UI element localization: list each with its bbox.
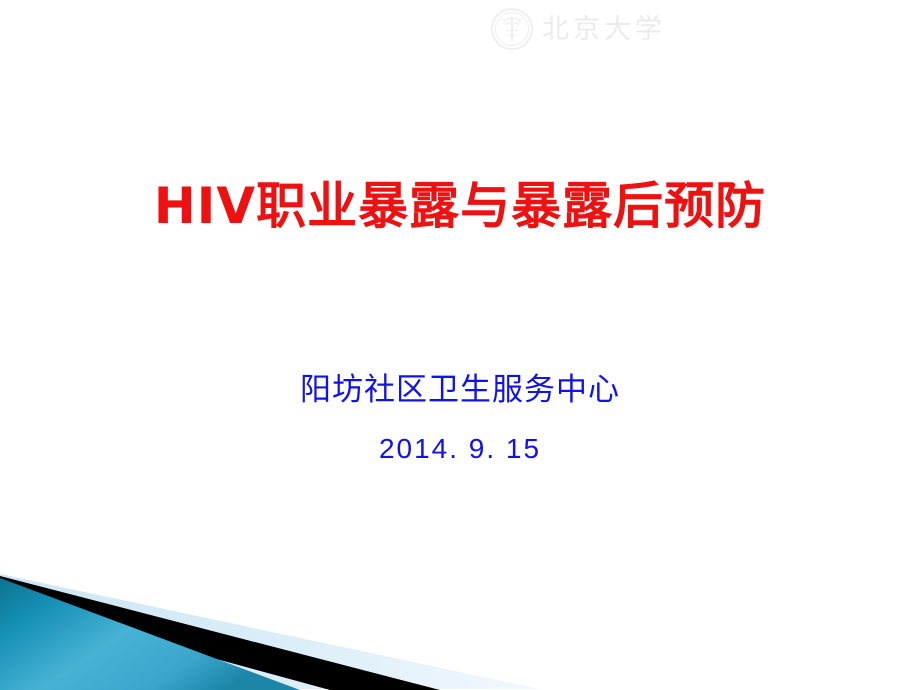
title-slide: 北京大学 HIV职业暴露与暴露后预防 阳坊社区卫生服务中心 2014. 9. 1… — [0, 0, 920, 690]
university-seal-icon — [490, 7, 534, 51]
university-name-text: 北京大学 — [542, 16, 666, 43]
decorative-ribbon — [0, 555, 560, 690]
university-emblem: 北京大学 — [490, 0, 780, 58]
subtitle-area: 阳坊社区卫生服务中心 2014. 9. 15 — [0, 372, 920, 466]
organization-name: 阳坊社区卫生服务中心 — [0, 372, 920, 409]
presentation-date: 2014. 9. 15 — [0, 432, 920, 466]
page-title: HIV职业暴露与暴露后预防 — [0, 178, 920, 234]
title-area: HIV职业暴露与暴露后预防 — [0, 178, 920, 234]
